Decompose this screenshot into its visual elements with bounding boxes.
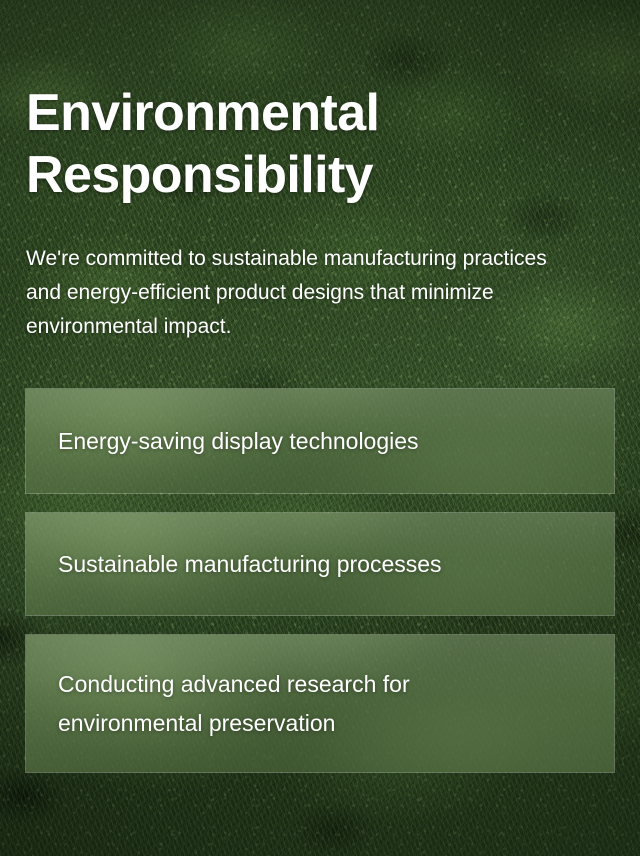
page-title: Environmental Responsibility (26, 82, 586, 206)
commitment-card[interactable]: Energy-saving display technologies (25, 388, 615, 494)
commitment-card[interactable]: Conducting advanced research for environ… (25, 634, 615, 773)
commitment-card-list: Energy-saving display technologies Susta… (25, 388, 615, 773)
environmental-responsibility-screen: Environmental Responsibility We're commi… (0, 0, 640, 856)
commitment-card-label: Sustainable manufacturing processes (26, 545, 474, 584)
content-container: Environmental Responsibility We're commi… (0, 0, 640, 856)
commitment-card-label: Conducting advanced research for environ… (26, 665, 442, 743)
commitment-card-label: Energy-saving display technologies (26, 422, 451, 461)
intro-paragraph: We're committed to sustainable manufactu… (26, 242, 578, 344)
commitment-card[interactable]: Sustainable manufacturing processes (25, 512, 615, 616)
